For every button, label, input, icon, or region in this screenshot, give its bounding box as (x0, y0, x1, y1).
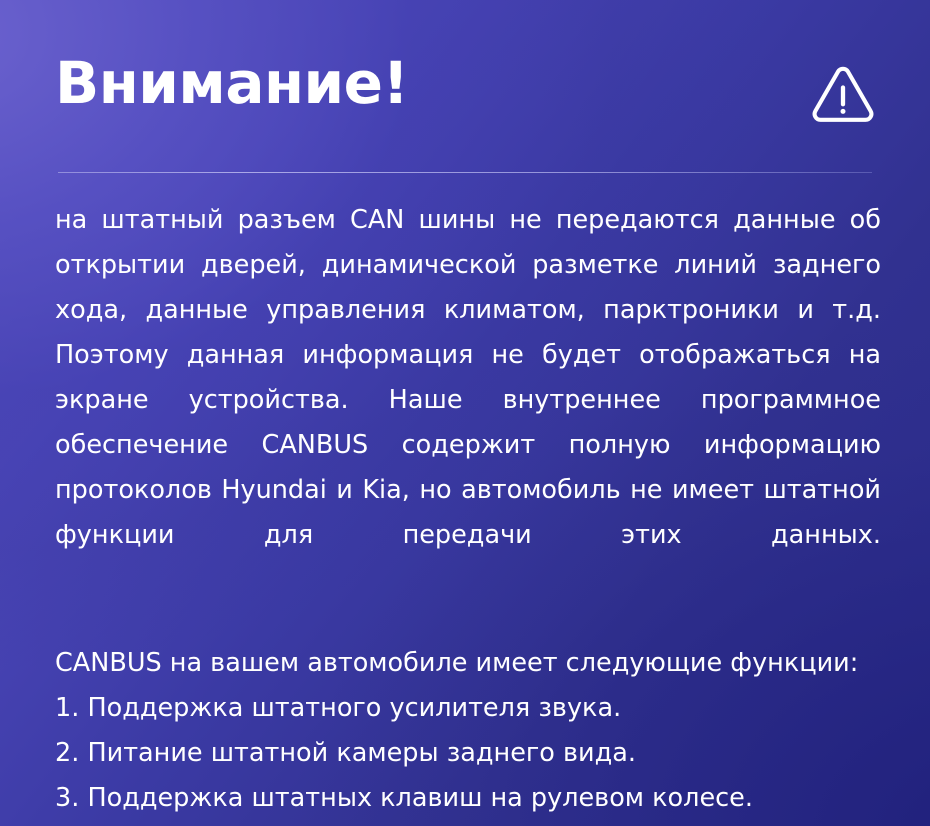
page-title: Внимание! (55, 52, 408, 114)
banner-header: Внимание! (0, 0, 930, 174)
feature-number: 2. (55, 738, 79, 768)
warning-banner: Внимание! на штатный разъем CAN шины не … (0, 0, 930, 826)
banner-content: на штатный разъем CAN шины не передаются… (55, 198, 881, 821)
feature-text: Поддержка штатного усилителя звука. (87, 693, 621, 723)
feature-text: Питание штатной камеры заднего вида. (87, 738, 636, 768)
list-item: 2. Питание штатной камеры заднего вида. (55, 731, 881, 776)
feature-number: 3. (55, 783, 79, 813)
header-divider (58, 172, 872, 173)
feature-list: 1. Поддержка штатного усилителя звука. 2… (55, 686, 881, 821)
list-item: 1. Поддержка штатного усилителя звука. (55, 686, 881, 731)
features-intro: CANBUS на вашем автомобиле имеет следующ… (55, 641, 881, 686)
lead-paragraph: на штатный разъем CAN шины не передаются… (55, 198, 881, 603)
list-item: 3. Поддержка штатных клавиш на рулевом к… (55, 776, 881, 821)
feature-text: Поддержка штатных клавиш на рулевом коле… (87, 783, 753, 813)
section-spacer (55, 603, 881, 641)
feature-number: 1. (55, 693, 79, 723)
features-section: CANBUS на вашем автомобиле имеет следующ… (55, 641, 881, 821)
warning-triangle-icon (812, 66, 874, 126)
